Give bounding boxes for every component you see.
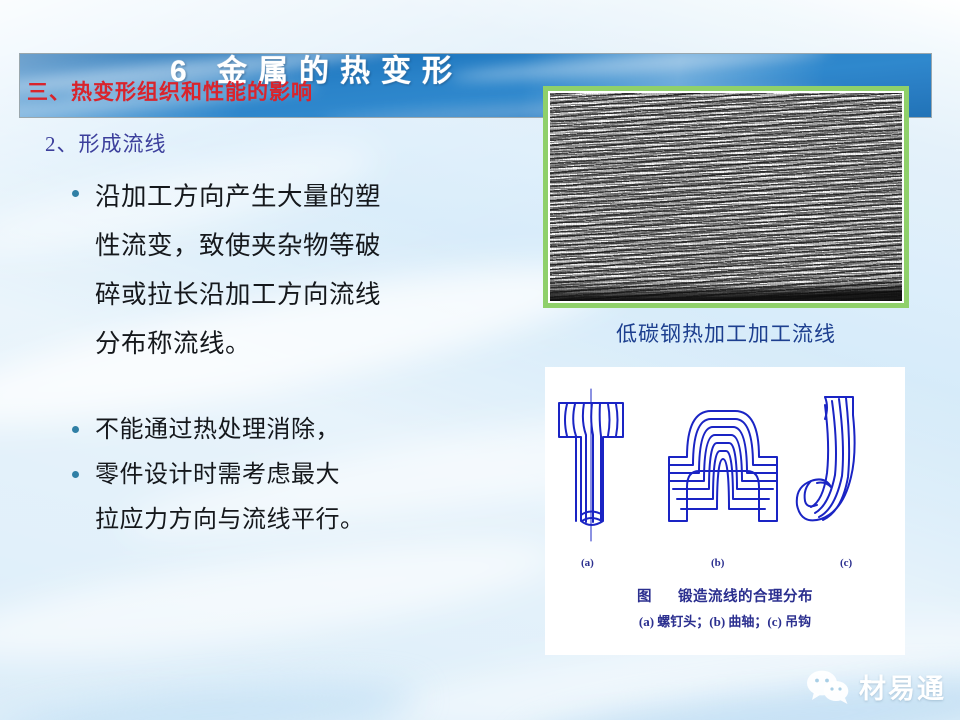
list-item: 不能通过热处理消除，: [72, 408, 512, 453]
watermark: 材易通: [806, 667, 946, 706]
bullet-block-2: 不能通过热处理消除，: [72, 408, 512, 453]
figure-label-a: (a): [581, 557, 594, 569]
forging-flowline-diagram: (a) (b) (c) 图锻造流线的合理分布 (a) 螺钉头；(b) 曲轴；(c…: [545, 367, 905, 655]
diagram-caption-text: 锻造流线的合理分布: [678, 589, 813, 605]
cloud-streak: [0, 672, 421, 720]
micrograph-frame: [543, 86, 909, 308]
crankshaft-forging-icon: [669, 411, 777, 521]
bullet-block-1: 沿加工方向产生大量的塑 性流变，致使夹杂物等破 碎或拉长沿加工方向流线 分布称流…: [72, 172, 512, 368]
figure-label-c: (c): [840, 557, 852, 569]
screw-head-forging-icon: [559, 389, 623, 541]
subsection-heading: 2、形成流线: [45, 128, 167, 158]
banner-cloud-streak: [450, 53, 830, 85]
bullet-text-line: 分布称流线。: [95, 319, 512, 368]
diagram-caption-items: (a) 螺钉头；(b) 曲轴；(c) 吊钩: [545, 611, 905, 630]
bullet-text-line: 不能通过热处理消除，: [95, 408, 340, 453]
micrograph-figure: [543, 86, 909, 308]
figure-label-b: (b): [711, 557, 724, 569]
bullet-dot-icon: [72, 426, 79, 433]
body-text-column: 沿加工方向产生大量的塑 性流变，致使夹杂物等破 碎或拉长沿加工方向流线 分布称流…: [72, 172, 512, 543]
diagram-caption-title: 图锻造流线的合理分布: [545, 585, 905, 606]
bullet-block-3: 零件设计时需考虑最大 拉应力方向与流线平行。: [72, 453, 512, 543]
list-item: 零件设计时需考虑最大: [72, 453, 512, 498]
section-subtitle: 三、热变形组织和性能的影响: [27, 76, 313, 106]
list-item: 沿加工方向产生大量的塑: [72, 172, 512, 221]
paragraph-spacer: [72, 368, 512, 408]
slide-canvas: 6 金属的热变形 三、热变形组织和性能的影响 2、形成流线 沿加工方向产生大量的…: [0, 0, 960, 720]
bullet-text-line: 沿加工方向产生大量的塑: [95, 172, 381, 221]
micrograph-caption: 低碳钢热加工加工流线: [543, 318, 909, 348]
diagram-caption-prefix: 图: [637, 589, 652, 605]
bullet-dot-icon: [72, 190, 79, 197]
bullet-text-line: 零件设计时需考虑最大: [95, 453, 340, 498]
watermark-label: 材易通: [859, 667, 946, 706]
micrograph-image: [550, 93, 902, 301]
bullet-text-line: 性流变，致使夹杂物等破: [95, 221, 512, 270]
bullet-dot-icon: [72, 471, 79, 478]
figure-sublabels: (a) (b) (c): [545, 557, 905, 579]
forging-shapes-svg: [545, 375, 905, 565]
wechat-icon: [806, 670, 850, 704]
hook-forging-icon: [797, 397, 855, 520]
bullet-text-line: 拉应力方向与流线平行。: [95, 498, 512, 543]
bullet-text-line: 碎或拉长沿加工方向流线: [95, 270, 512, 319]
